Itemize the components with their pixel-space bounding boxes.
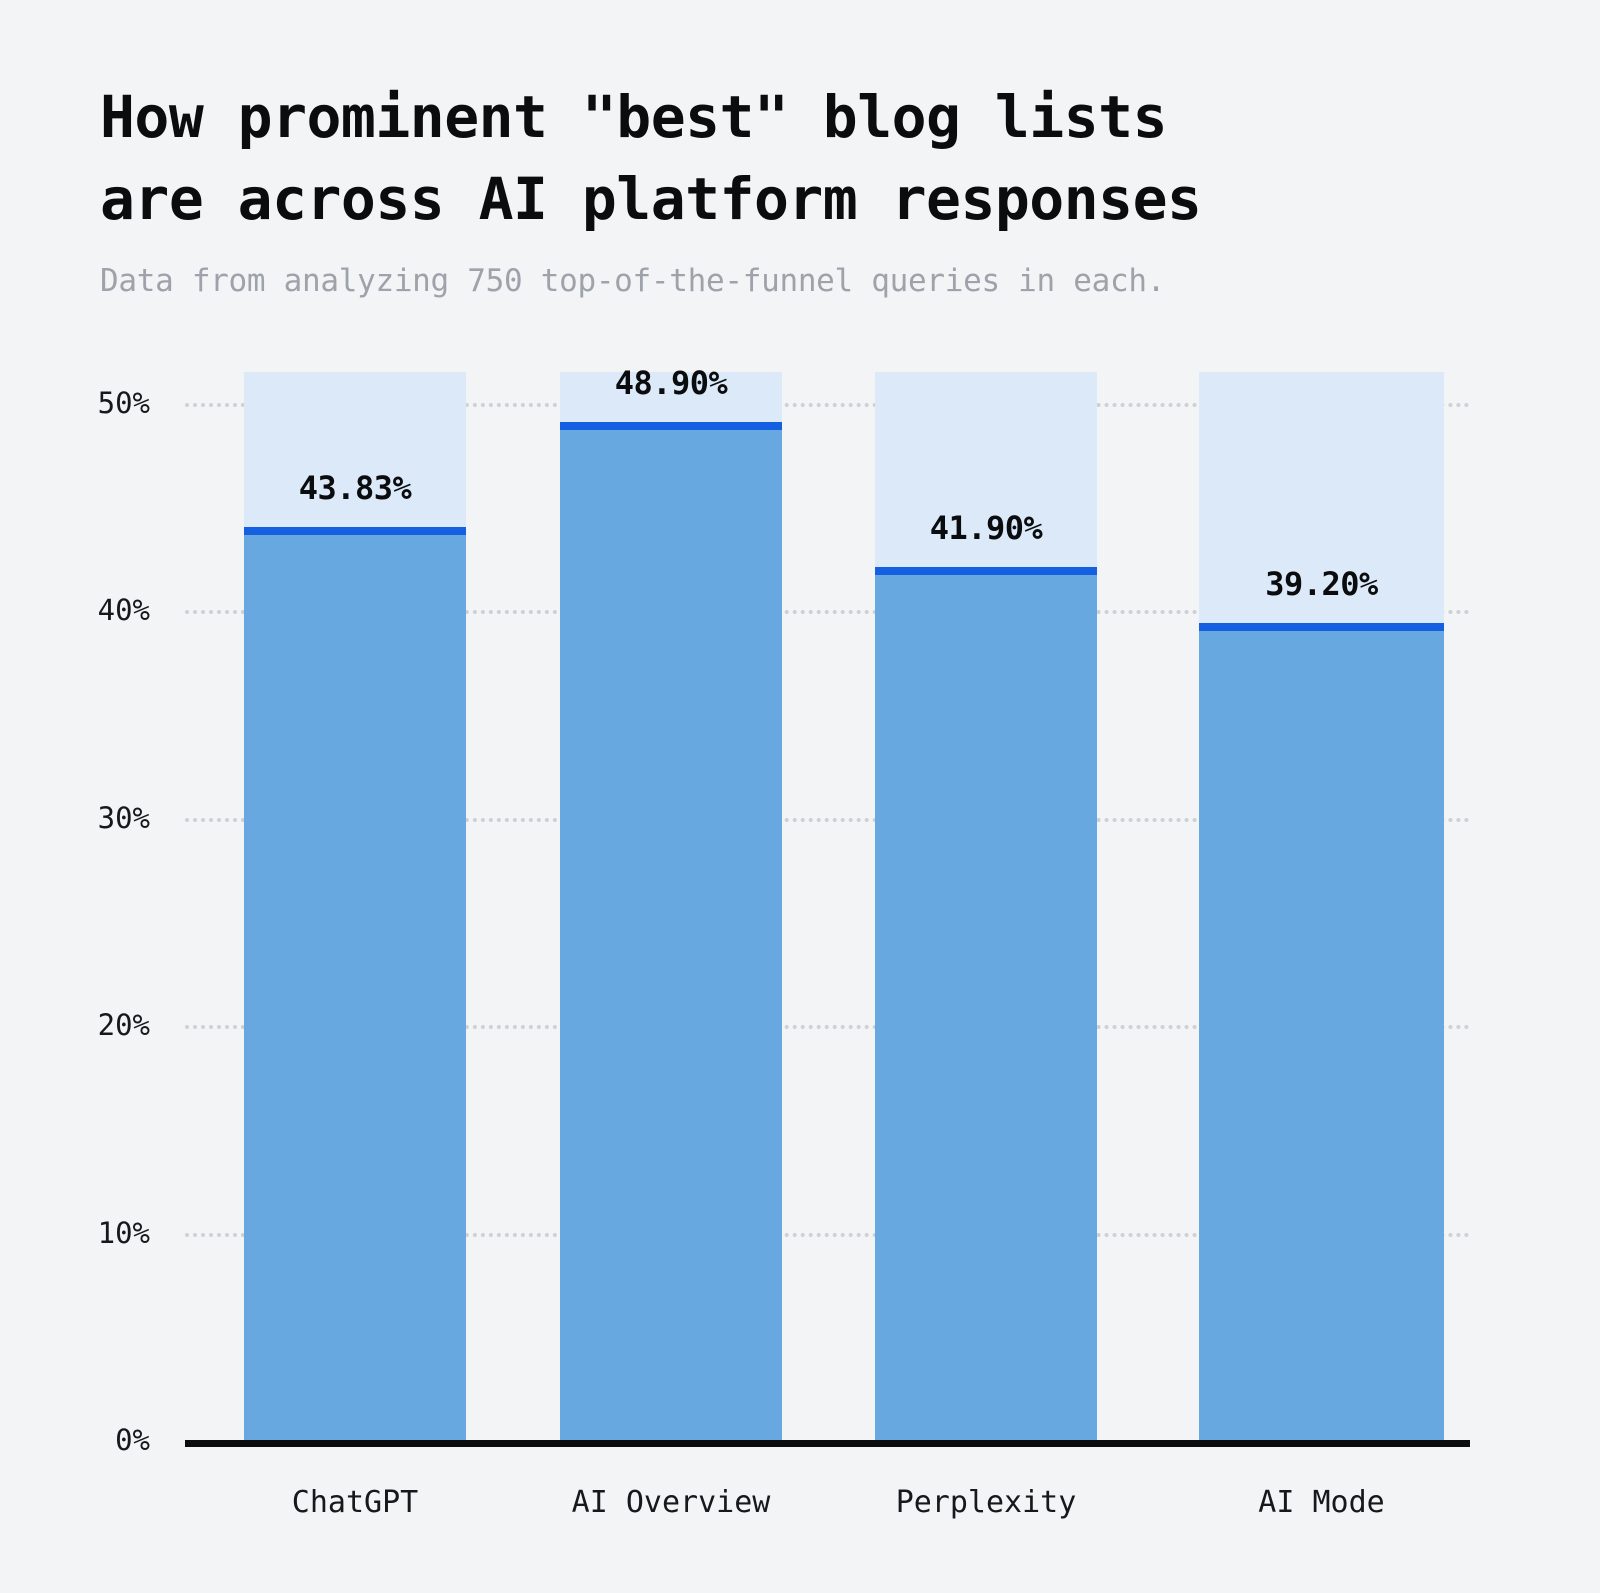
bar-cap-line	[560, 422, 782, 430]
bar-group[interactable]: 48.90%AI Overview	[560, 0, 782, 1593]
bar-value-label: 39.20%	[1199, 565, 1444, 603]
y-axis-tick-label: 40%	[30, 593, 150, 627]
bar-fill	[560, 426, 782, 1440]
x-axis-category-label: ChatGPT	[204, 1485, 506, 1520]
y-axis-tick-label: 0%	[30, 1423, 150, 1457]
plot-area: 0%10%20%30%40%50%43.83%ChatGPT48.90%AI O…	[0, 0, 1600, 1593]
x-axis-category-label: Perplexity	[835, 1485, 1137, 1520]
bar-value-label: 41.90%	[875, 509, 1097, 547]
bar-fill	[875, 571, 1097, 1440]
y-axis-tick-label: 30%	[30, 801, 150, 835]
chart-canvas: How prominent "best" blog lists are acro…	[0, 0, 1600, 1593]
bar-fill	[1199, 627, 1444, 1440]
bar-value-label: 43.83%	[244, 469, 466, 507]
x-axis-category-label: AI Overview	[520, 1485, 822, 1520]
bar-cap-line	[244, 527, 466, 535]
x-axis-category-label: AI Mode	[1159, 1485, 1484, 1520]
y-axis-tick-label: 50%	[30, 386, 150, 420]
bar-value-label: 48.90%	[560, 364, 782, 402]
bar-group[interactable]: 43.83%ChatGPT	[244, 0, 466, 1593]
bar-group[interactable]: 41.90%Perplexity	[875, 0, 1097, 1593]
bar-group[interactable]: 39.20%AI Mode	[1199, 0, 1444, 1593]
bar-cap-line	[875, 567, 1097, 575]
bar-fill	[244, 531, 466, 1440]
y-axis-tick-label: 10%	[30, 1216, 150, 1250]
bar-cap-line	[1199, 623, 1444, 631]
y-axis-tick-label: 20%	[30, 1008, 150, 1042]
